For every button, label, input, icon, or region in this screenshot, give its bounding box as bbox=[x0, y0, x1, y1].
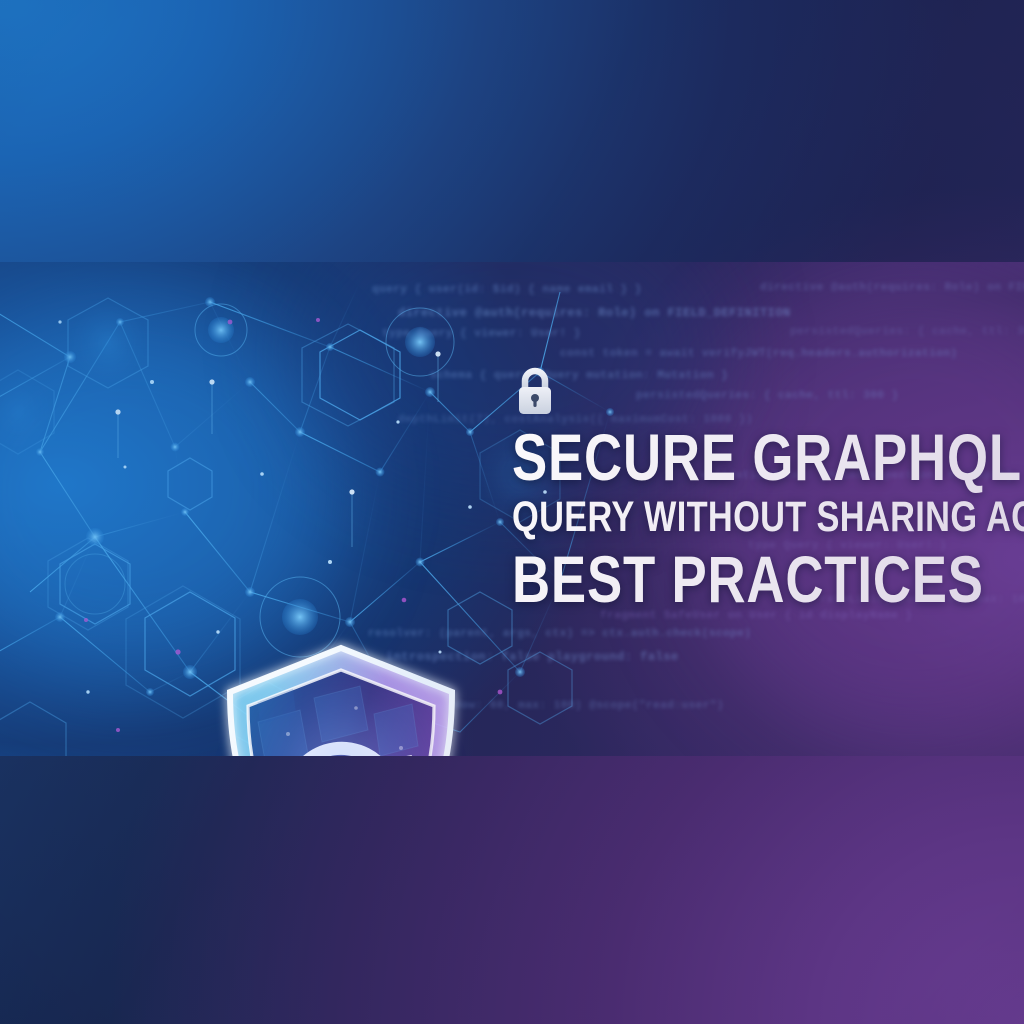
headline-block: SECURE GRAPHQL QUERY WITHOUT SHARING ACC… bbox=[512, 366, 982, 612]
shield-logo: QL bbox=[196, 630, 486, 756]
code-line: directive @auth(requires: Role) on FIELD… bbox=[760, 282, 1024, 294]
headline-line-2: QUERY WITHOUT SHARING ACCESS bbox=[512, 496, 888, 539]
banner: query { user(id: $id) { name email } } d… bbox=[0, 262, 1024, 756]
padlock-icon bbox=[512, 366, 558, 420]
poster-canvas: query { user(id: $id) { name email } } d… bbox=[0, 0, 1024, 1024]
headline-line-1: SECURE GRAPHQL bbox=[512, 424, 888, 490]
headline-line-3: BEST PRACTICES bbox=[512, 546, 888, 612]
code-line: persistedQueries: { cache, ttl: 300 } bbox=[790, 326, 1024, 338]
shield-glow bbox=[216, 640, 466, 756]
